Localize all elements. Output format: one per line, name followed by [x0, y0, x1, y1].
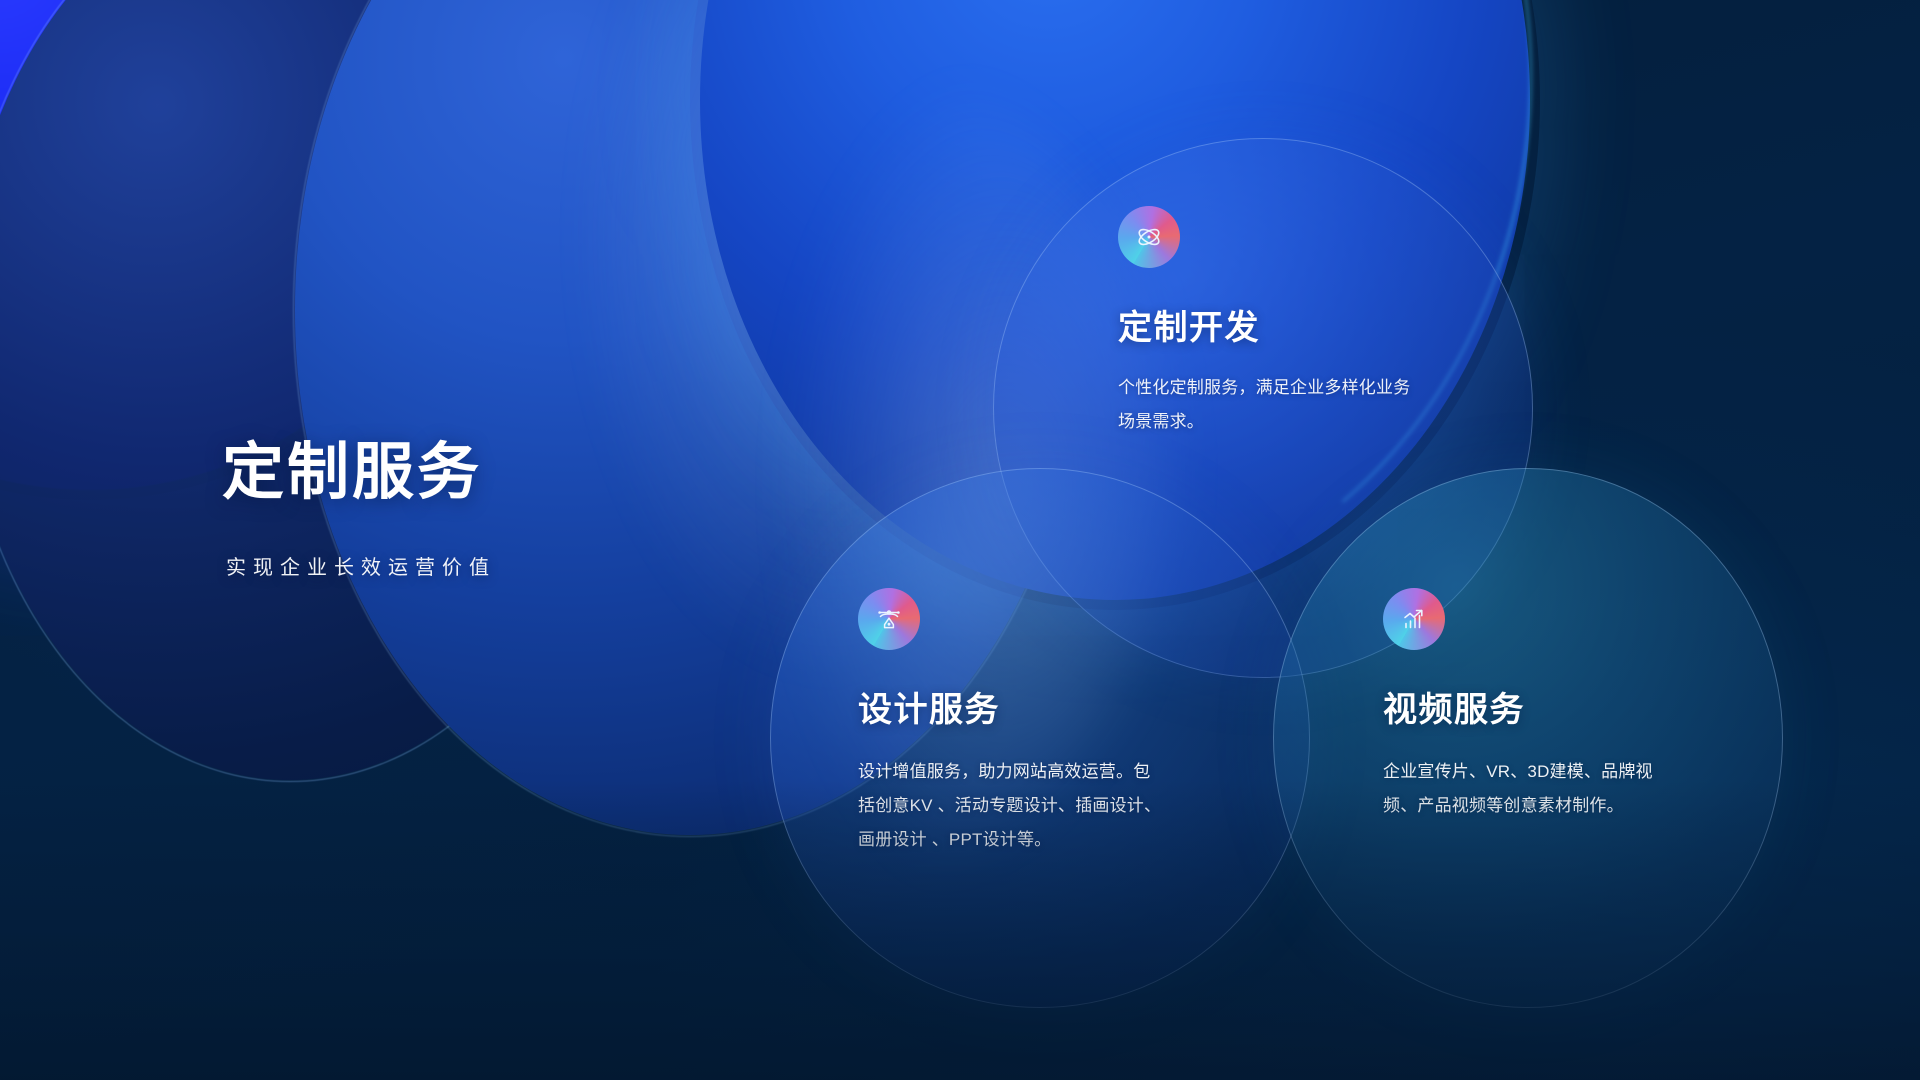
service-card-video-service[interactable]: 视频服务 企业宣传片、VR、3D建模、品牌视频、产品视频等创意素材制作。 [1273, 468, 1783, 1008]
card-content-custom-development: 定制开发 个性化定制服务，满足企业多样化业务场景需求。 [1118, 206, 1412, 439]
page-title: 定制服务 [222, 440, 496, 507]
hero-banner: 定制服务 实现企业长效运营价值 定制开发 个性化定制服务，满足企业多样化业务场景… [0, 0, 1920, 1080]
atom-orbit-icon [1118, 206, 1180, 268]
pen-nib-icon [858, 588, 920, 650]
card-content-design-service: 设计服务 设计增值服务，助力网站高效运营。包括创意KV 、活动专题设计、插画设计… [858, 588, 1164, 857]
growth-chart-icon [1383, 588, 1445, 650]
service-card-design-service[interactable]: 设计服务 设计增值服务，助力网站高效运营。包括创意KV 、活动专题设计、插画设计… [770, 468, 1310, 1008]
card-description: 设计增值服务，助力网站高效运营。包括创意KV 、活动专题设计、插画设计、画册设计… [858, 755, 1164, 857]
card-content-video-service: 视频服务 企业宣传片、VR、3D建模、品牌视频、产品视频等创意素材制作。 [1383, 588, 1683, 823]
card-title: 设计服务 [858, 692, 1164, 729]
card-description: 企业宣传片、VR、3D建模、品牌视频、产品视频等创意素材制作。 [1383, 755, 1683, 823]
page-subtitle: 实现企业长效运营价值 [226, 551, 496, 580]
hero-text-block: 定制服务 实现企业长效运营价值 [222, 440, 496, 580]
card-description: 个性化定制服务，满足企业多样化业务场景需求。 [1118, 371, 1412, 439]
card-title: 视频服务 [1383, 692, 1683, 729]
card-title: 定制开发 [1118, 310, 1412, 347]
